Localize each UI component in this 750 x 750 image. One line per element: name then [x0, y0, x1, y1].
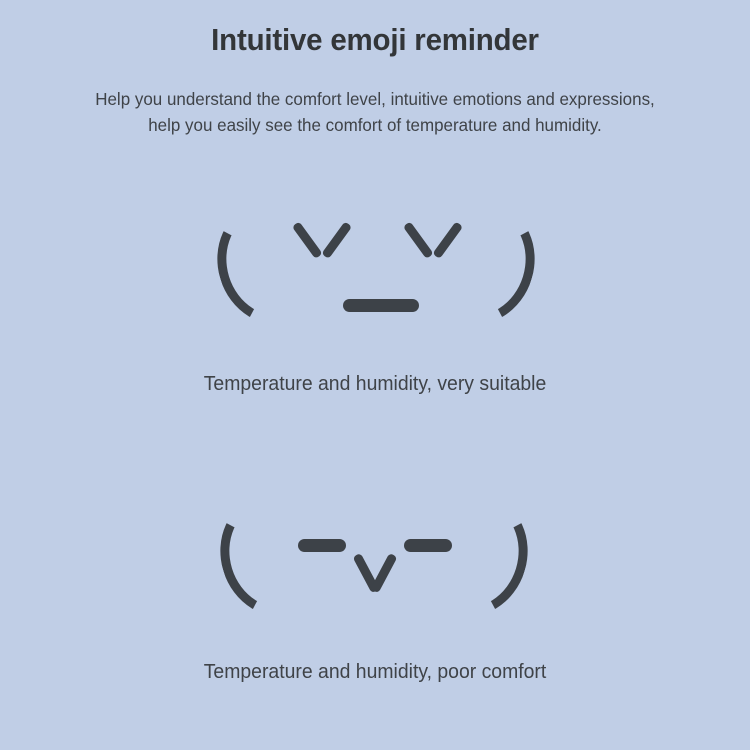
emoji-reminder-page: Intuitive emoji reminder Help you unders… — [0, 0, 750, 750]
caption-poor-comfort: Temperature and humidity, poor comfort — [11, 661, 739, 684]
page-title: Intuitive emoji reminder — [19, 22, 732, 58]
subtitle-line-2: help you easily see the comfort of tempe… — [11, 112, 739, 138]
emoji-face-very-suitable — [0, 195, 750, 355]
right-parenthesis-icon — [401, 480, 542, 631]
left-eye-dash-icon — [298, 539, 346, 552]
mouth-caret-icon — [351, 555, 399, 593]
caption-very-suitable: Temperature and humidity, very suitable — [11, 373, 739, 396]
left-parenthesis-icon — [205, 480, 346, 631]
left-eye-caret-icon — [289, 224, 355, 260]
page-subtitle: Help you understand the comfort level, i… — [11, 86, 739, 138]
right-eye-caret-icon — [400, 224, 466, 260]
left-parenthesis-icon — [202, 188, 343, 339]
right-parenthesis-icon — [408, 188, 549, 339]
emoji-face-poor-comfort — [0, 487, 750, 647]
subtitle-line-1: Help you understand the comfort level, i… — [11, 86, 739, 112]
right-eye-dash-icon — [404, 539, 452, 552]
mouth-underscore-icon — [343, 299, 419, 312]
